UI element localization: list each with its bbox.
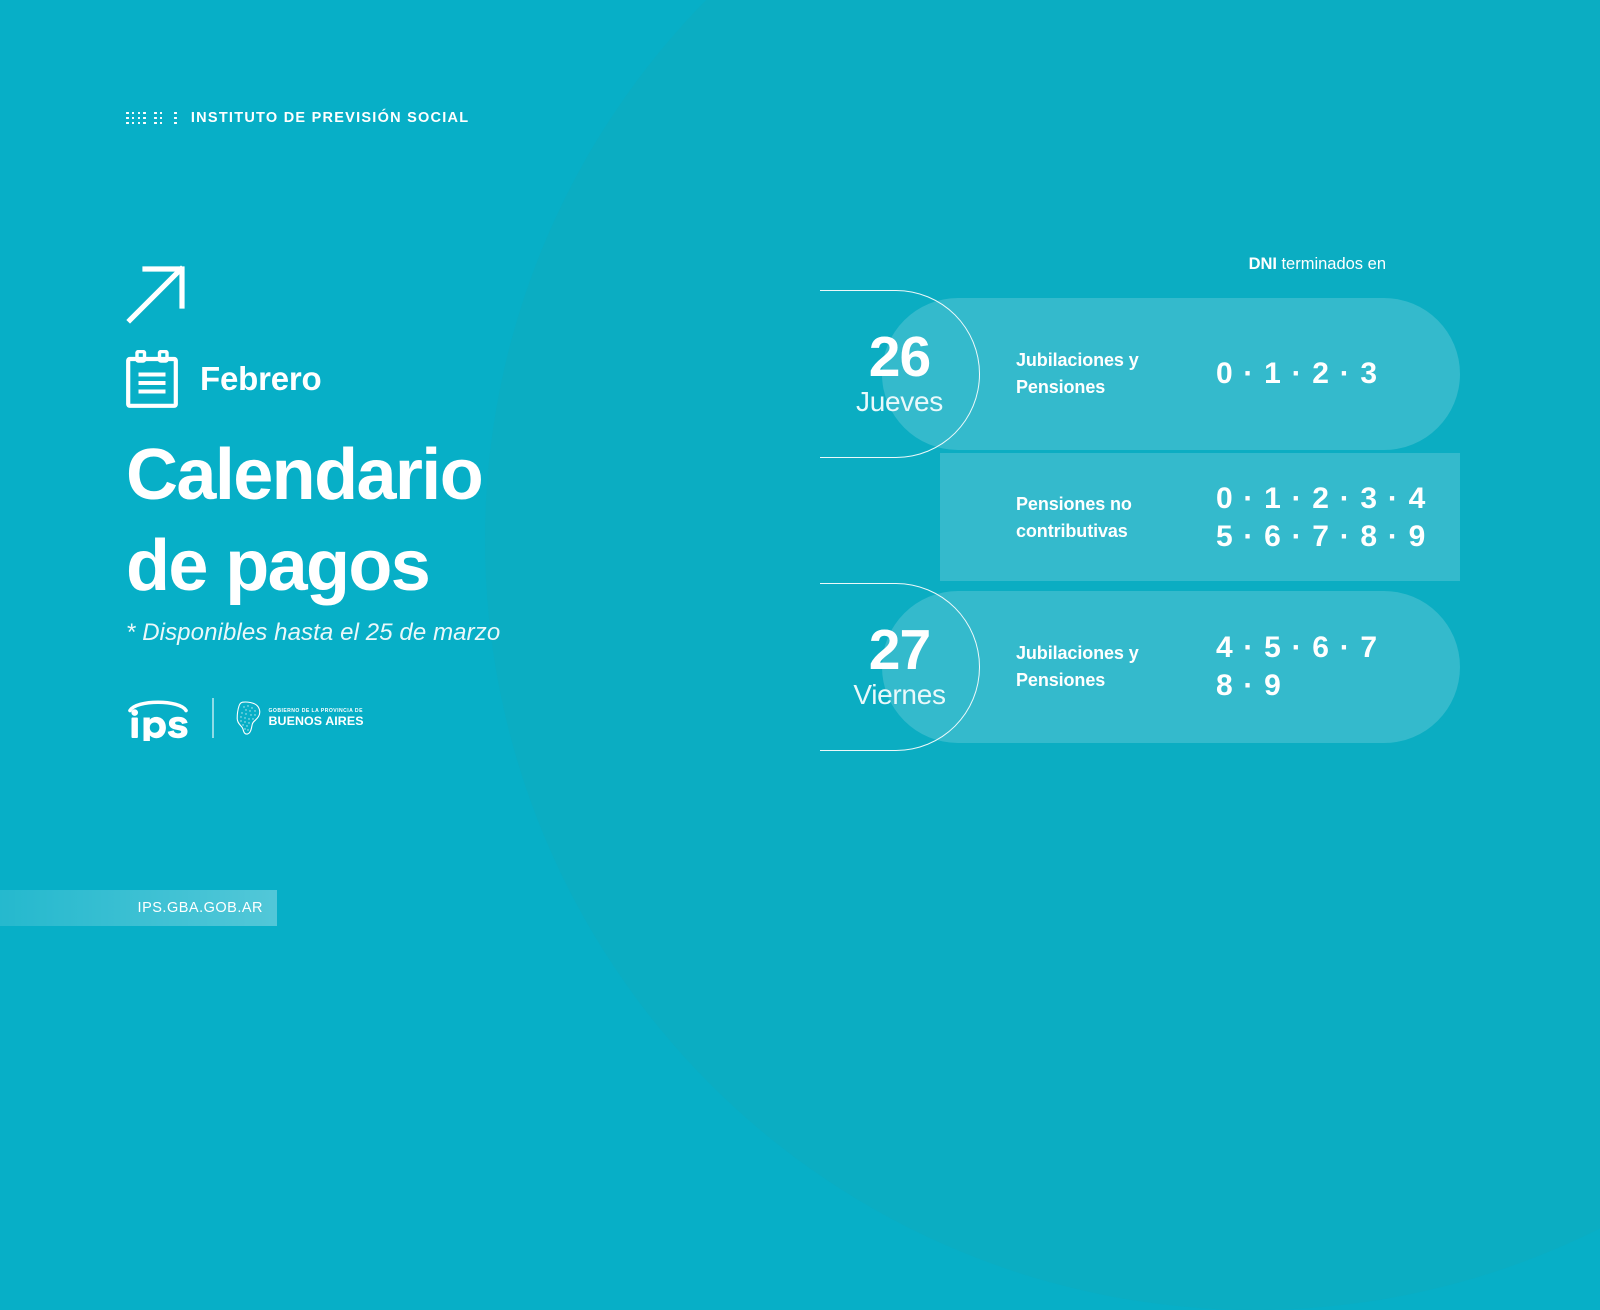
day-name: Viernes [853,679,945,711]
dni-digits-line: 5 · 6 · 7 · 8 · 9 [1216,520,1426,553]
ips-logo [126,695,190,741]
dni-header-bold: DNI [1249,255,1277,273]
payment-schedule-panel: DNI terminados en 26 Jueves Jubilaciones… [820,255,1460,751]
month-label: Febrero [200,360,321,398]
day-number: 26 [869,330,930,385]
row-body: Jubilaciones y Pensiones 4 · 5 · 6 · 7 8… [1016,583,1460,751]
row-body: Jubilaciones y Pensiones 0 · 1 · 2 · 3 [1016,290,1460,458]
website-url-text: IPS.GBA.GOB.AR [138,900,263,916]
poster-stage: INSTITUTO DE PREVISIÓN SOCIAL Febrero Ca… [0,0,1600,1066]
gba-logo-text: GOBIERNO DE LA PROVINCIA DE BUENOS AIRES [269,709,364,728]
brand-bar: INSTITUTO DE PREVISIÓN SOCIAL [126,110,469,126]
benefit-type: Jubilaciones y Pensiones [1016,347,1216,401]
website-url-badge[interactable]: IPS.GBA.GOB.AR [0,890,277,926]
dni-digits: 0 · 1 · 2 · 3 [1216,355,1378,393]
arrow-up-right-icon [126,262,188,324]
benefit-type: Jubilaciones y Pensiones [1016,640,1216,694]
calendar-icon [126,350,178,408]
buenos-aires-province-map-icon [236,701,262,735]
dot-grid-icon [126,112,177,125]
brand-name: INSTITUTO DE PREVISIÓN SOCIAL [191,110,469,126]
logo-divider [212,698,214,738]
day-name: Jueves [856,386,943,418]
gba-logo-line2: BUENOS AIRES [269,715,364,727]
payment-row: 27 Viernes Jubilaciones y Pensiones 4 · … [820,583,1460,751]
month-row: Febrero [126,350,746,408]
gba-logo: GOBIERNO DE LA PROVINCIA DE BUENOS AIRES [236,701,364,735]
dni-digits: 0 · 1 · 2 · 3 · 4 5 · 6 · 7 · 8 · 9 [1216,480,1426,557]
day-number: 27 [869,623,930,678]
footer-logos: GOBIERNO DE LA PROVINCIA DE BUENOS AIRES [126,695,746,741]
availability-note: * Disponibles hasta el 25 de marzo [126,619,746,647]
row-body: Pensiones no contributivas 0 · 1 · 2 · 3… [1016,453,1460,583]
dni-digits-line: 0 · 1 · 2 · 3 [1216,357,1378,390]
dni-digits: 4 · 5 · 6 · 7 8 · 9 [1216,629,1378,706]
payment-row: 26 Jueves Jubilaciones y Pensiones 0 · 1… [820,290,1460,458]
dni-column-header: DNI terminados en [820,255,1460,274]
dni-header-regular: terminados en [1281,255,1386,273]
page-title: Calendario de pagos [126,430,746,611]
dni-digits-line: 0 · 1 · 2 · 3 · 4 [1216,482,1426,515]
dot-separator-icon [174,112,177,125]
benefit-type: Pensiones no contributivas [1016,491,1216,545]
dni-digits-line: 4 · 5 · 6 · 7 [1216,631,1378,664]
payment-row: Pensiones no contributivas 0 · 1 · 2 · 3… [820,453,1460,583]
left-content-column: Febrero Calendario de pagos * Disponible… [126,262,746,741]
dni-digits-line: 8 · 9 [1216,669,1282,702]
